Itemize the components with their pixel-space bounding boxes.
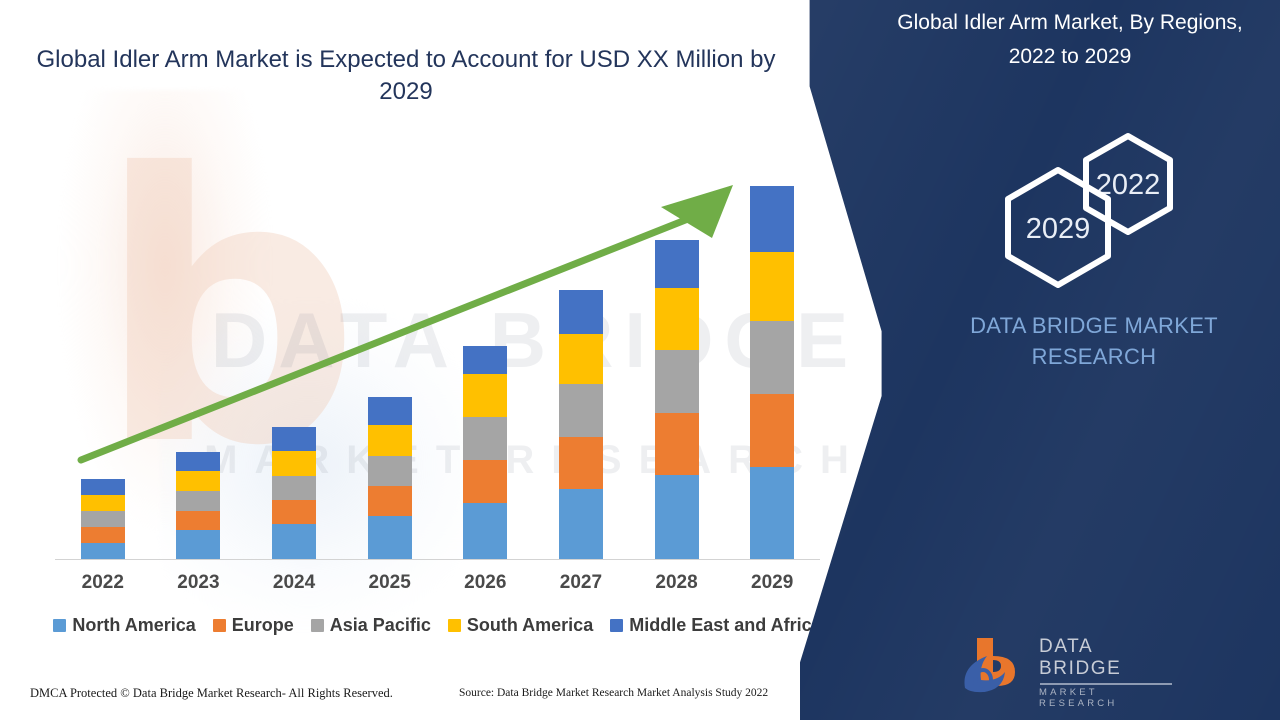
legend-label: South America [467,615,593,636]
bar-segment[interactable] [176,511,220,530]
bar-segment[interactable] [655,475,699,559]
bar-segment[interactable] [559,489,603,559]
growth-arrow-icon [55,165,765,485]
x-axis-label: 2022 [55,572,151,594]
dbmr-logo-text: DATA BRIDGE MARKET RESEARCH [1039,636,1172,709]
legend-item[interactable]: South America [448,615,593,636]
legend-item[interactable]: North America [53,615,195,636]
legend-item[interactable]: Middle East and Africa [610,615,821,636]
bar-segment[interactable] [81,511,125,527]
legend-label: Europe [232,615,294,636]
dbmr-logo: DATA BRIDGE MARKET RESEARCH [953,632,1168,694]
bar-segment[interactable] [81,495,125,511]
x-axis-label: 2023 [151,572,247,594]
bar-segment[interactable] [176,530,220,559]
legend-item[interactable]: Asia Pacific [311,615,431,636]
bar-segment[interactable] [81,527,125,543]
legend-swatch [53,619,66,632]
legend-swatch [610,619,623,632]
chart-legend: North AmericaEuropeAsia PacificSouth Ame… [40,615,835,636]
x-axis-line [55,559,820,560]
bar-segment[interactable] [176,491,220,511]
legend-swatch [311,619,324,632]
panel-title-line-2: 2022 to 2029 [860,40,1280,74]
dbmr-logo-line-1: DATA BRIDGE [1039,636,1172,680]
stacked-bar[interactable] [81,479,125,559]
x-axis-labels: 20222023202420252026202720282029 [55,572,820,594]
x-axis-label: 2028 [629,572,725,594]
x-axis-label: 2027 [533,572,629,594]
panel-brand-line-2: RESEARCH [944,341,1244,372]
hexagon-badges: 2022 2029 [998,130,1208,290]
bar-segment[interactable] [81,543,125,559]
panel-brand-line-1: DATA BRIDGE MARKET [944,310,1244,341]
hexagon-2029-label: 2029 [1026,213,1091,245]
x-axis-label: 2024 [246,572,342,594]
panel-brand: DATA BRIDGE MARKET RESEARCH [944,310,1244,372]
chart-title: Global Idler Arm Market is Expected to A… [36,44,776,108]
legend-item[interactable]: Europe [213,615,294,636]
x-axis-label: 2026 [438,572,534,594]
x-axis-label: 2025 [342,572,438,594]
footer-copyright: DMCA Protected © Data Bridge Market Rese… [30,686,393,701]
infographic-root: b DATA BRIDGE MARKET RESEARCH Global Idl… [0,0,1280,720]
x-axis-label: 2029 [724,572,820,594]
panel-title-line-1: Global Idler Arm Market, By Regions, [897,11,1242,34]
dbmr-logo-mark-icon [953,632,1039,694]
legend-swatch [448,619,461,632]
bar-segment[interactable] [272,500,316,524]
dbmr-logo-divider [1040,683,1172,685]
legend-swatch [213,619,226,632]
panel-title: Global Idler Arm Market, By Regions, 202… [860,6,1280,74]
bar-segment[interactable] [272,524,316,559]
dbmr-logo-line-2: MARKET RESEARCH [1039,687,1172,709]
bar-segment[interactable] [368,486,412,516]
legend-label: Middle East and Africa [629,615,821,636]
legend-label: North America [72,615,195,636]
footer-source: Source: Data Bridge Market Research Mark… [459,687,768,699]
legend-label: Asia Pacific [330,615,431,636]
bar-segment[interactable] [368,516,412,559]
bar-segment[interactable] [463,503,507,559]
